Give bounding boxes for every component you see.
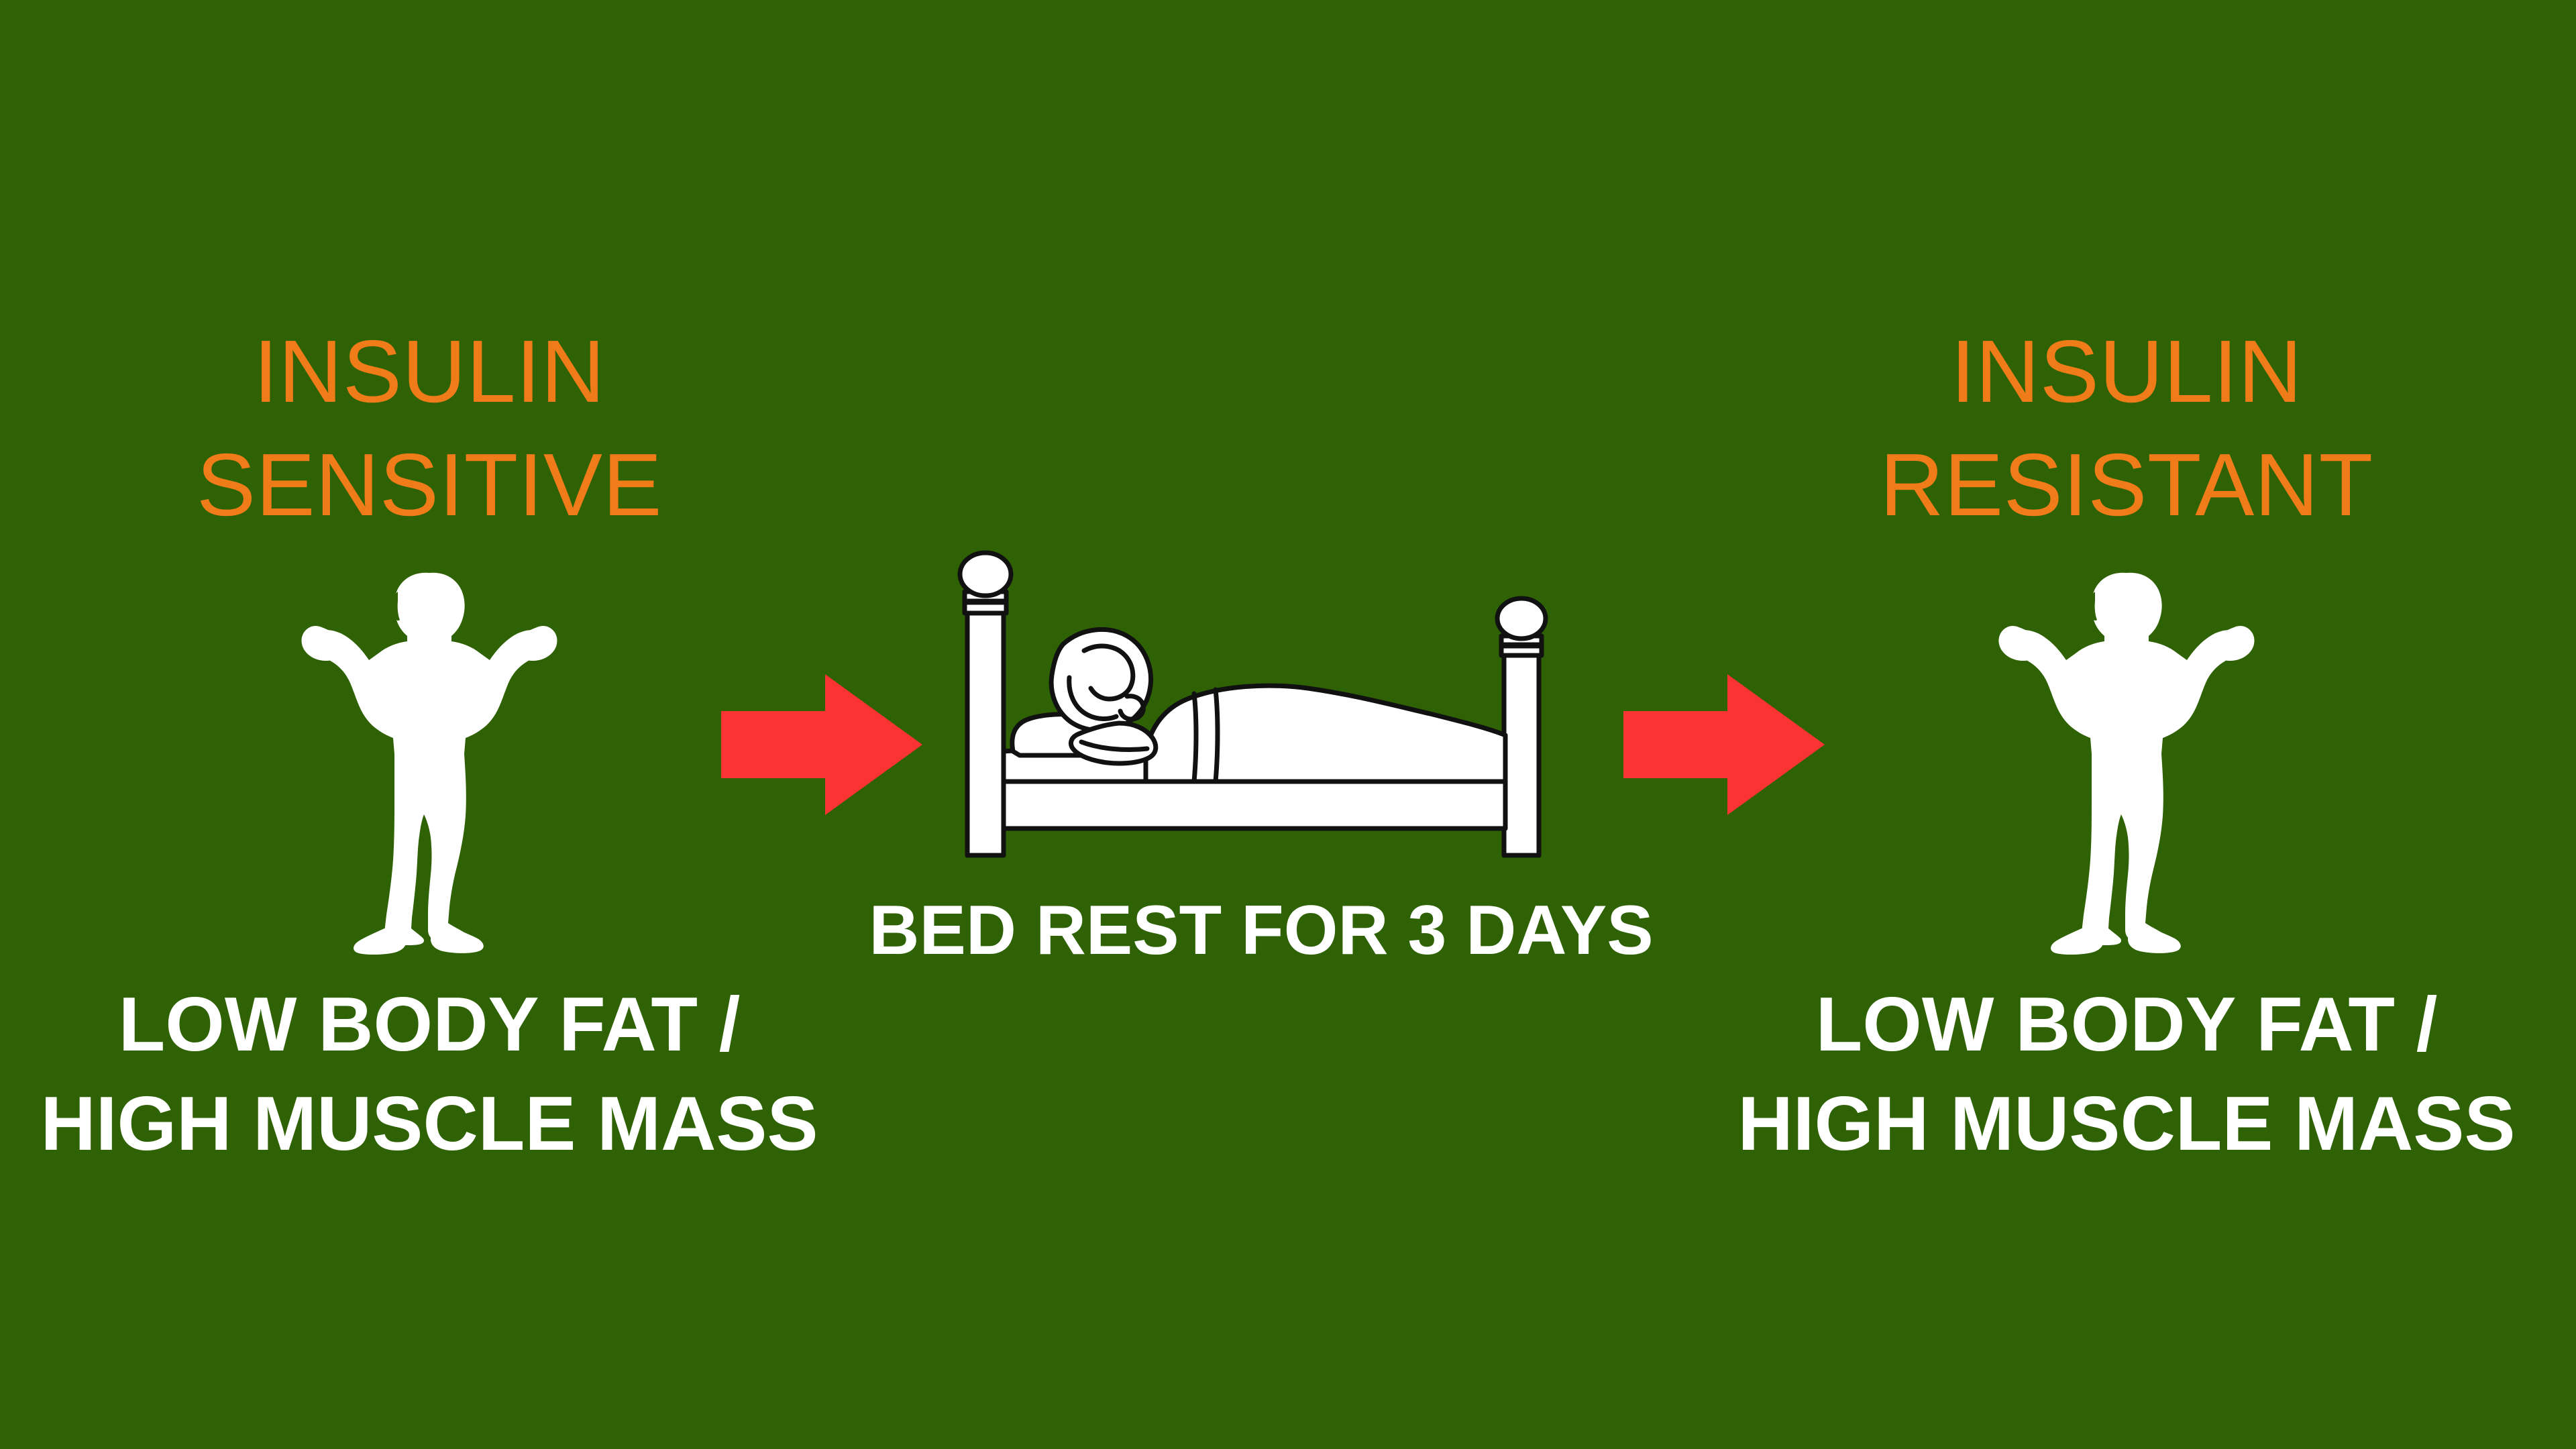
- panel-bed-rest: BED REST FOR 3 DAYS: [859, 550, 1664, 969]
- panel-insulin-sensitive: INSULIN SENSITIVE LO: [20, 0, 839, 1449]
- bodybuilder-silhouette-icon-left: [288, 553, 570, 955]
- bed-rest-caption: BED REST FOR 3 DAYS: [859, 892, 1664, 969]
- state-title-right: INSULIN RESISTANT: [1737, 315, 2516, 542]
- body-caption-left: LOW BODY FAT / HIGH MUSCLE MASS: [34, 975, 825, 1174]
- person-sleeping-in-bed-icon: [926, 550, 1597, 885]
- infographic-canvas: INSULIN SENSITIVE LO: [0, 0, 2576, 1449]
- state-title-left: INSULIN SENSITIVE: [40, 315, 818, 542]
- panel-insulin-resistant: INSULIN RESISTANT LOW BODY FAT / HIGH MU…: [1717, 0, 2536, 1449]
- body-caption-right: LOW BODY FAT / HIGH MUSCLE MASS: [1731, 975, 2522, 1174]
- bodybuilder-silhouette-icon-right: [1986, 553, 2267, 955]
